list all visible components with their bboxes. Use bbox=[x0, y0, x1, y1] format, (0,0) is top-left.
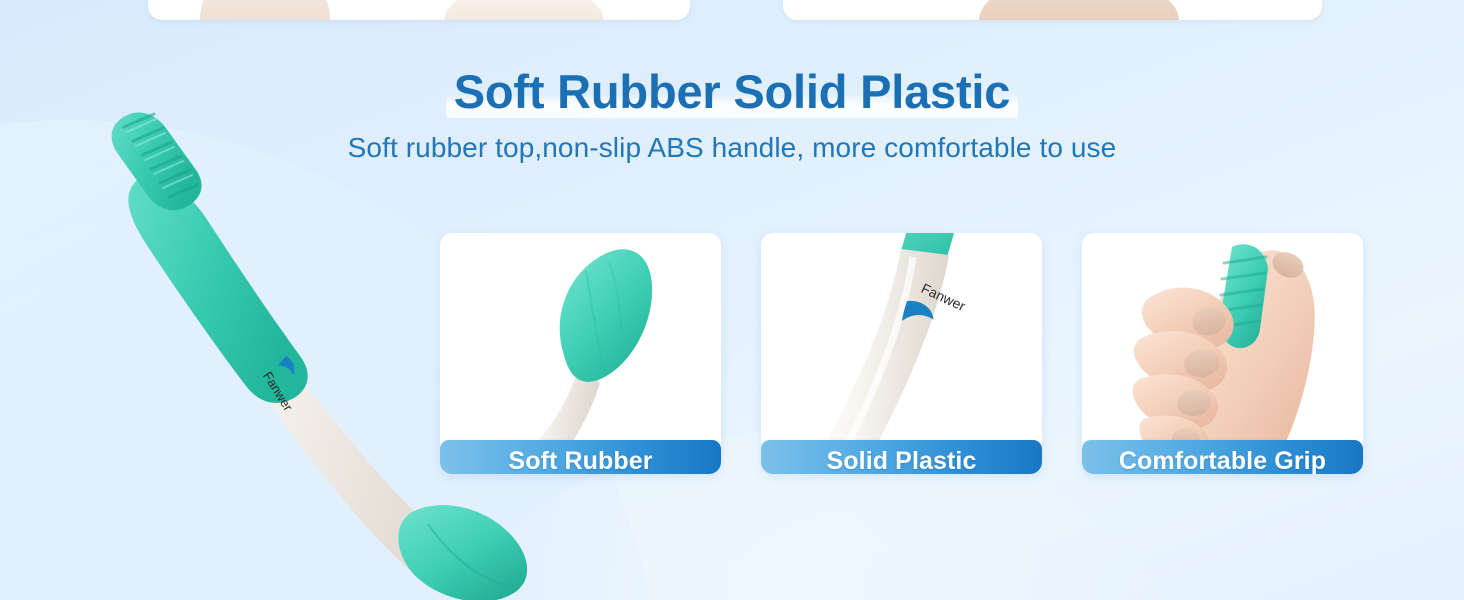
hero-brand-text: Fanwer bbox=[260, 369, 296, 414]
hero-teal-body bbox=[128, 179, 307, 403]
solid-plastic-image: Fanwer bbox=[761, 233, 1042, 474]
hero-teal-tip bbox=[398, 505, 527, 600]
feature-card-list: Soft Rubber bbox=[440, 233, 1364, 474]
top-cutoff-card-1 bbox=[148, 0, 690, 20]
top-card-2-image-a bbox=[979, 0, 1179, 20]
soft-rubber-caption: Soft Rubber bbox=[440, 440, 721, 474]
page-subtitle: Soft rubber top,non-slip ABS handle, mor… bbox=[0, 132, 1464, 164]
page-title-wrap: Soft Rubber Solid Plastic bbox=[446, 66, 1018, 119]
soft-rubber-svg bbox=[440, 233, 721, 474]
hero-brand-logo: Fanwer bbox=[258, 355, 313, 414]
soft-rubber-caption-label: Soft Rubber bbox=[508, 447, 652, 474]
top-card-1-image-b bbox=[444, 0, 604, 20]
top-cutoff-card-2 bbox=[783, 0, 1322, 20]
solid-plastic-caption-label: Solid Plastic bbox=[827, 447, 977, 474]
comfortable-grip-image bbox=[1082, 233, 1363, 474]
feature-card-solid-plastic[interactable]: Fanwer Solid Plastic bbox=[761, 233, 1042, 474]
comfortable-grip-caption: Comfortable Grip bbox=[1082, 440, 1363, 474]
heading-block: Soft Rubber Solid Plastic Soft rubber to… bbox=[0, 66, 1464, 164]
soft-rubber-image bbox=[440, 233, 721, 474]
comfortable-grip-caption-label: Comfortable Grip bbox=[1119, 447, 1326, 474]
top-card-1-image-a bbox=[200, 0, 330, 20]
comfortable-grip-svg bbox=[1082, 233, 1363, 474]
hero-white-handle bbox=[140, 206, 452, 574]
feature-card-soft-rubber[interactable]: Soft Rubber bbox=[440, 233, 721, 474]
solid-plastic-caption: Solid Plastic bbox=[761, 440, 1042, 474]
page-title: Soft Rubber Solid Plastic bbox=[454, 66, 1010, 119]
solid-plastic-svg: Fanwer bbox=[761, 233, 1042, 474]
feature-card-comfortable-grip[interactable]: Comfortable Grip bbox=[1082, 233, 1363, 474]
